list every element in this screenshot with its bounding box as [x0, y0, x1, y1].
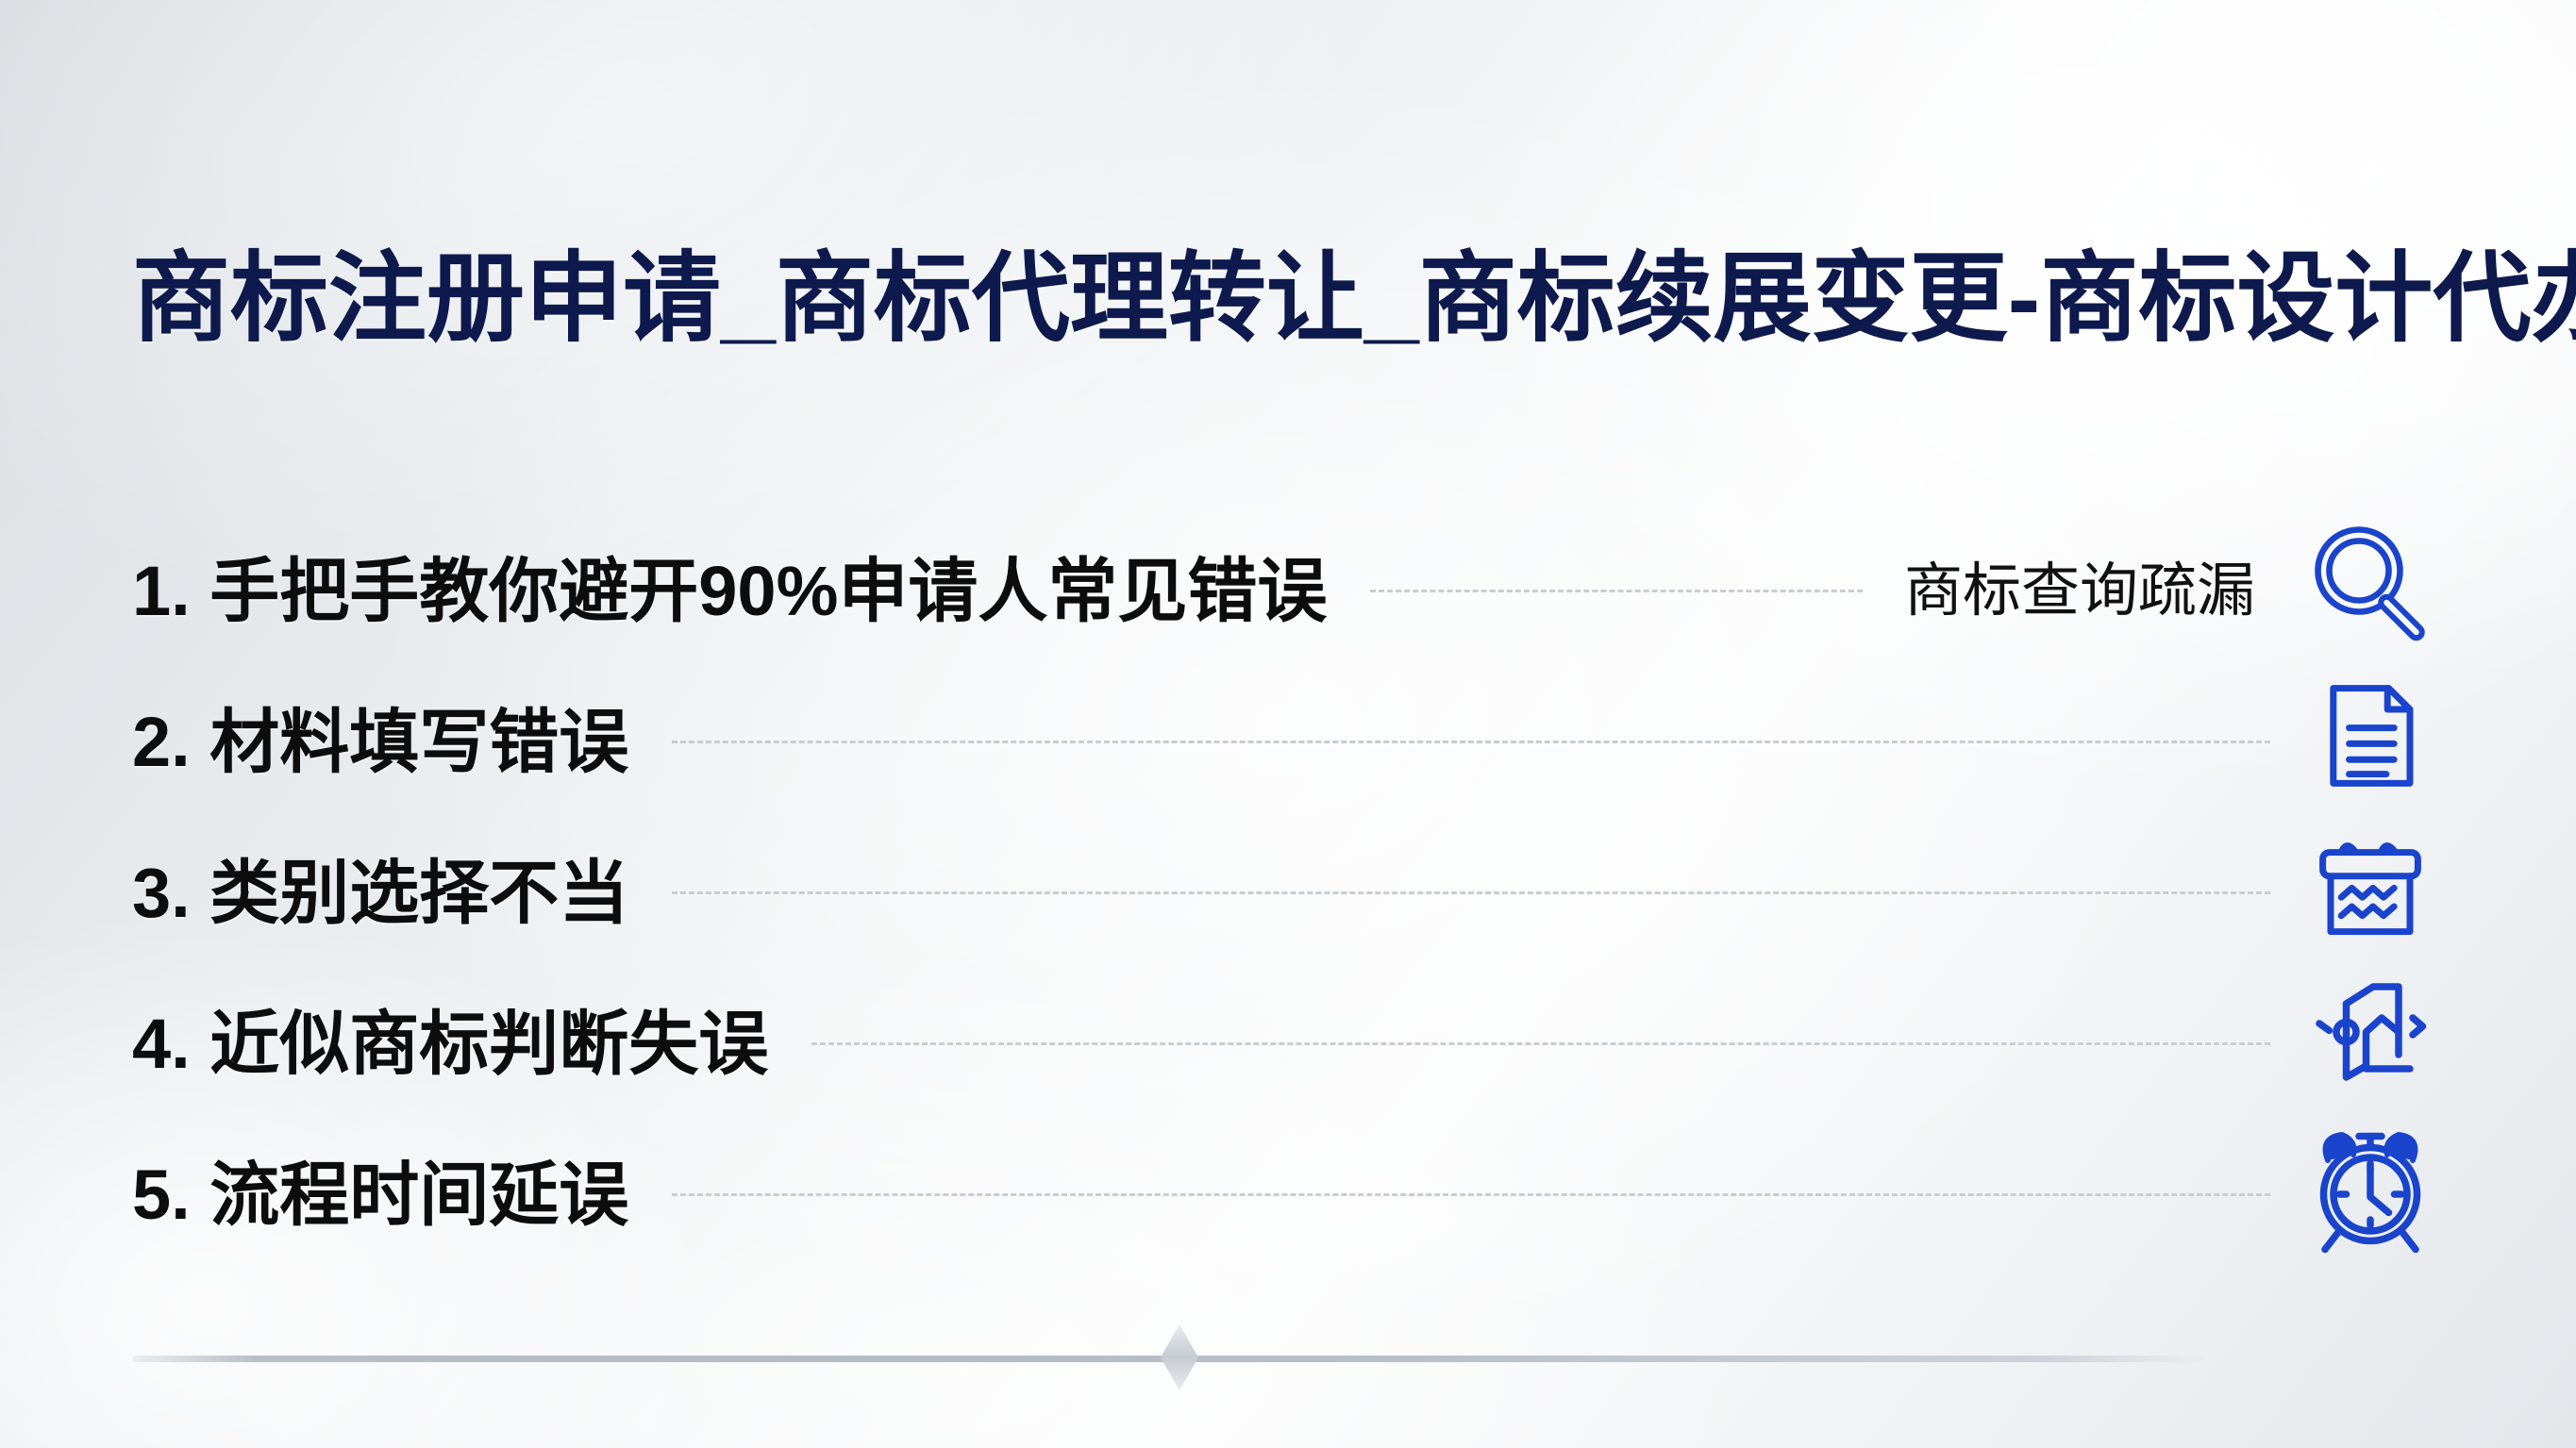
open-door-compare-icon: [2287, 967, 2453, 1108]
divider-diamond-marker: [1161, 1324, 1198, 1390]
list-item-note: 商标查询疏漏: [1880, 542, 2287, 627]
list-item[interactable]: 3. 类别选择不当: [132, 811, 2453, 962]
issue-list: 1. 手把手教你避开90%申请人常见错误 商标查询疏漏 2. 材料填写错误: [132, 509, 2453, 1264]
calendar-basket-icon: [2287, 816, 2453, 957]
leader-line: [1370, 590, 1863, 592]
list-item-label: 5. 流程时间延误: [132, 1139, 655, 1240]
document-icon: [2287, 665, 2453, 807]
page-title: 商标注册申请_商标代理转让_商标续展变更-商标设计代办公司指南: [132, 243, 2453, 357]
alarm-clock-icon: [2287, 1118, 2453, 1259]
footer-divider: [132, 1351, 2208, 1364]
leader-line: [672, 741, 2270, 743]
list-item[interactable]: 2. 材料填写错误: [132, 660, 2453, 811]
list-item[interactable]: 1. 手把手教你避开90%申请人常见错误 商标查询疏漏: [132, 509, 2453, 660]
list-item-label: 2. 材料填写错误: [132, 686, 655, 787]
list-item-label: 4. 近似商标判断失误: [132, 988, 795, 1089]
list-item-label: 3. 类别选择不当: [132, 837, 655, 938]
list-item[interactable]: 4. 近似商标判断失误: [132, 962, 2453, 1113]
leader-line: [672, 891, 2270, 894]
list-item-label: 1. 手把手教你避开90%申请人常见错误: [132, 535, 1353, 636]
leader-line: [811, 1042, 2270, 1045]
list-item[interactable]: 5. 流程时间延误: [132, 1113, 2453, 1264]
leader-line: [672, 1193, 2270, 1196]
slide: 商标注册申请_商标代理转让_商标续展变更-商标设计代办公司指南 1. 手把手教你…: [0, 0, 2576, 1448]
magnifier-icon: [2287, 514, 2453, 656]
